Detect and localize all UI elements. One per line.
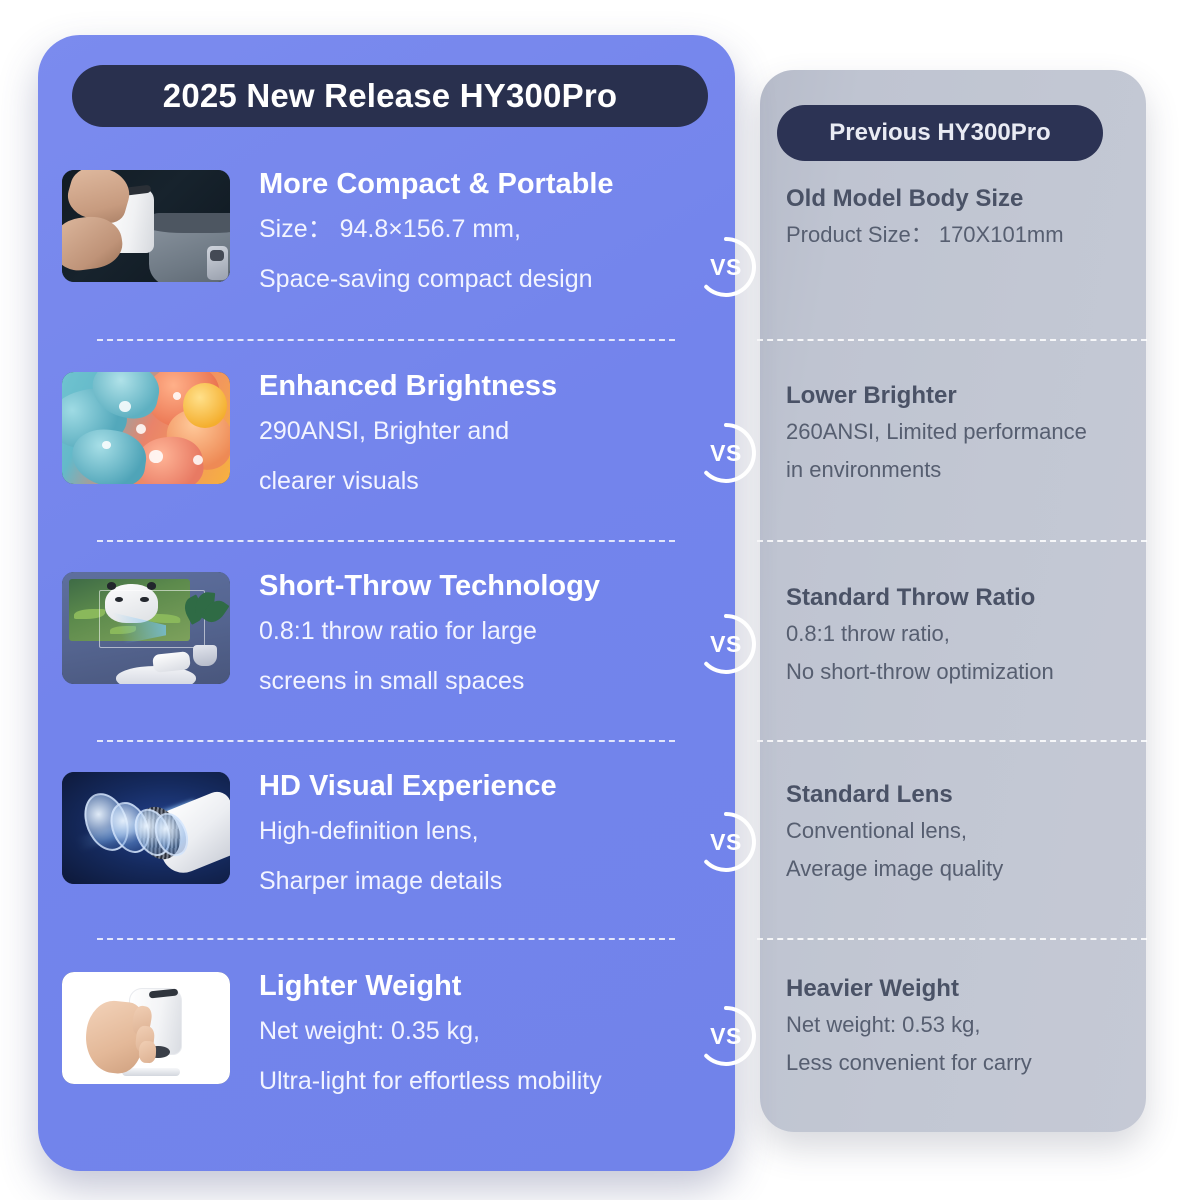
old-row-2-line1: 260ANSI, Limited performance xyxy=(786,413,1146,451)
new-row-2-thumbnail xyxy=(62,372,230,484)
new-row-3-thumbnail xyxy=(62,572,230,684)
new-row-3-line1: 0.8:1 throw ratio for large xyxy=(259,606,729,656)
old-divider-1 xyxy=(757,339,1147,341)
old-divider-4 xyxy=(757,938,1147,940)
vs-badge-1-label: VS xyxy=(710,256,742,279)
new-row-5-thumbnail xyxy=(62,972,230,1084)
vs-badge-2: VS xyxy=(695,422,757,484)
vs-badge-5-label: VS xyxy=(710,1025,742,1048)
vs-badge-2-label: VS xyxy=(710,442,742,465)
old-row-2-title: Lower Brighter xyxy=(786,379,1146,413)
new-row-1-line1: Size： 94.8×156.7 mm, xyxy=(259,204,729,254)
new-divider-2 xyxy=(97,540,675,542)
previous-model-header-label: Previous HY300Pro xyxy=(829,119,1050,147)
vs-badge-3-label: VS xyxy=(710,633,742,656)
old-row-4-title: Standard Lens xyxy=(786,778,1146,812)
vs-badge-4-label: VS xyxy=(710,831,742,854)
new-row-2-line2: clearer visuals xyxy=(259,456,729,506)
old-row-2-line2: in environments xyxy=(786,451,1146,489)
old-row-1-line1: Product Size： 170X101mm xyxy=(786,216,1146,254)
old-row-1: Old Model Body Size Product Size： 170X10… xyxy=(786,182,1146,254)
old-row-2: Lower Brighter 260ANSI, Limited performa… xyxy=(786,379,1146,489)
old-row-3-line2: No short-throw optimization xyxy=(786,653,1146,691)
new-row-4-line1: High-definition lens, xyxy=(259,806,729,856)
new-model-header-label: 2025 New Release HY300Pro xyxy=(163,77,617,115)
new-row-2-title: Enhanced Brightness xyxy=(259,366,729,406)
new-row-2-line1: 290ANSI, Brighter and xyxy=(259,406,729,456)
new-divider-1 xyxy=(97,339,675,341)
new-row-1-line2: Space-saving compact design xyxy=(259,254,729,304)
vs-badge-4: VS xyxy=(695,811,757,873)
previous-model-header-pill: Previous HY300Pro xyxy=(777,105,1103,161)
old-row-4-line2: Average image quality xyxy=(786,850,1146,888)
vs-badge-3: VS xyxy=(695,613,757,675)
vs-badge-5: VS xyxy=(695,1005,757,1067)
new-row-1-title: More Compact & Portable xyxy=(259,164,729,204)
new-row-5-title: Lighter Weight xyxy=(259,966,729,1006)
new-row-5-line1: Net weight: 0.35 kg, xyxy=(259,1006,729,1056)
old-row-3-title: Standard Throw Ratio xyxy=(786,581,1146,615)
new-model-header-pill: 2025 New Release HY300Pro xyxy=(72,65,708,127)
old-row-1-title: Old Model Body Size xyxy=(786,182,1146,216)
new-row-1-thumbnail xyxy=(62,170,230,282)
old-row-3-line1: 0.8:1 throw ratio, xyxy=(786,615,1146,653)
new-row-5-line2: Ultra-light for effortless mobility xyxy=(259,1056,729,1106)
old-row-5-title: Heavier Weight xyxy=(786,972,1146,1006)
old-row-4-line1: Conventional lens, xyxy=(786,812,1146,850)
old-row-5-line1: Net weight: 0.53 kg, xyxy=(786,1006,1146,1044)
old-row-3: Standard Throw Ratio 0.8:1 throw ratio, … xyxy=(786,581,1146,691)
old-row-5: Heavier Weight Net weight: 0.53 kg, Less… xyxy=(786,972,1146,1082)
old-row-5-line2: Less convenient for carry xyxy=(786,1044,1146,1082)
new-row-3-line2: screens in small spaces xyxy=(259,656,729,706)
new-row-4-line2: Sharper image details xyxy=(259,856,729,906)
vs-badge-1: VS xyxy=(695,236,757,298)
new-divider-3 xyxy=(97,740,675,742)
new-row-3-title: Short-Throw Technology xyxy=(259,566,729,606)
old-divider-2 xyxy=(757,540,1147,542)
new-divider-4 xyxy=(97,938,675,940)
old-row-4: Standard Lens Conventional lens, Average… xyxy=(786,778,1146,888)
comparison-infographic: Previous HY300Pro Old Model Body Size Pr… xyxy=(0,0,1200,1200)
new-row-4-thumbnail xyxy=(62,772,230,884)
new-row-4-title: HD Visual Experience xyxy=(259,766,729,806)
old-divider-3 xyxy=(757,740,1147,742)
